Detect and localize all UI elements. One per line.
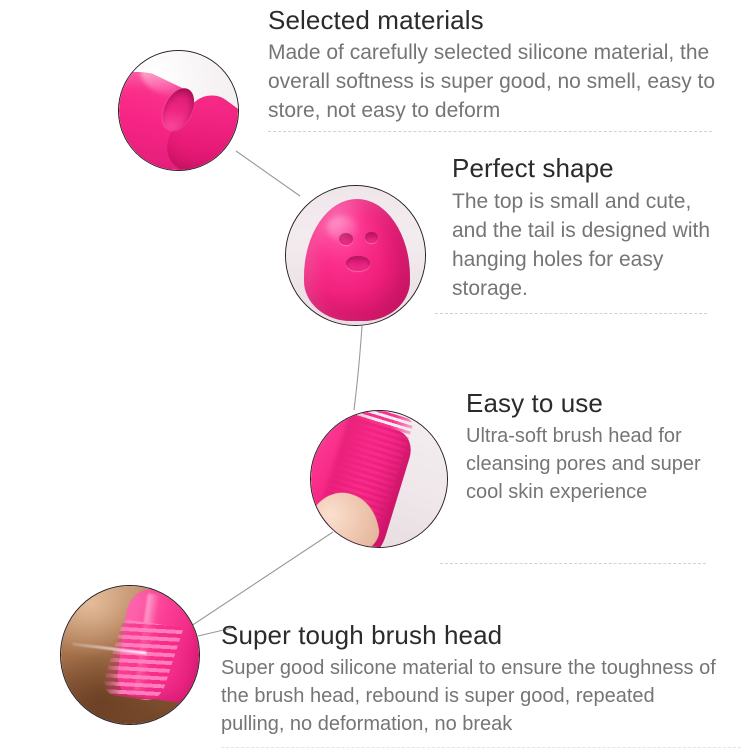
dome-gloss-highlight xyxy=(327,216,357,240)
feature-heading-super-tough-brush-head: Super tough brush head xyxy=(221,619,721,652)
connector-line-2-3 xyxy=(354,326,362,410)
dimple-right-eye-icon xyxy=(365,232,378,244)
feature-block-easy-to-use: Easy to use Ultra-soft brush head for cl… xyxy=(466,386,720,506)
brush-head-photo xyxy=(311,411,447,547)
feature-body-easy-to-use: Ultra-soft brush head for cleansing pore… xyxy=(466,422,720,506)
dome-body-shape xyxy=(304,199,410,321)
infographic-canvas: Selected materials Made of carefully sel… xyxy=(0,0,750,750)
dimple-mouth-icon xyxy=(346,256,369,271)
feature-body-perfect-shape: The top is small and cute, and the tail … xyxy=(452,187,720,303)
separator-rule-2 xyxy=(435,313,707,314)
separator-rule-4 xyxy=(221,747,741,748)
separator-rule-1 xyxy=(268,131,712,132)
feature-heading-selected-materials: Selected materials xyxy=(268,4,720,36)
feature-heading-perfect-shape: Perfect shape xyxy=(452,152,720,185)
connector-line-1-2 xyxy=(236,151,300,196)
handle-photo xyxy=(119,51,238,170)
separator-rule-3 xyxy=(440,563,706,564)
dome-photo xyxy=(286,186,425,325)
feature-body-super-tough-brush-head: Super good silicone material to ensure t… xyxy=(221,654,721,738)
feature-image-selected-materials xyxy=(118,50,239,171)
connector-line-3-4 xyxy=(182,532,333,632)
feature-image-super-tough-brush-head xyxy=(60,585,200,725)
feature-block-perfect-shape: Perfect shape The top is small and cute,… xyxy=(452,152,720,303)
bristle-pull-test-photo xyxy=(61,586,199,724)
feature-block-selected-materials: Selected materials Made of carefully sel… xyxy=(268,4,720,125)
feature-block-super-tough-brush-head: Super tough brush head Super good silico… xyxy=(221,619,721,738)
feature-body-selected-materials: Made of carefully selected silicone mate… xyxy=(268,38,720,125)
feature-heading-easy-to-use: Easy to use xyxy=(466,386,720,420)
feature-image-easy-to-use xyxy=(310,410,448,548)
feature-image-perfect-shape xyxy=(285,185,426,326)
